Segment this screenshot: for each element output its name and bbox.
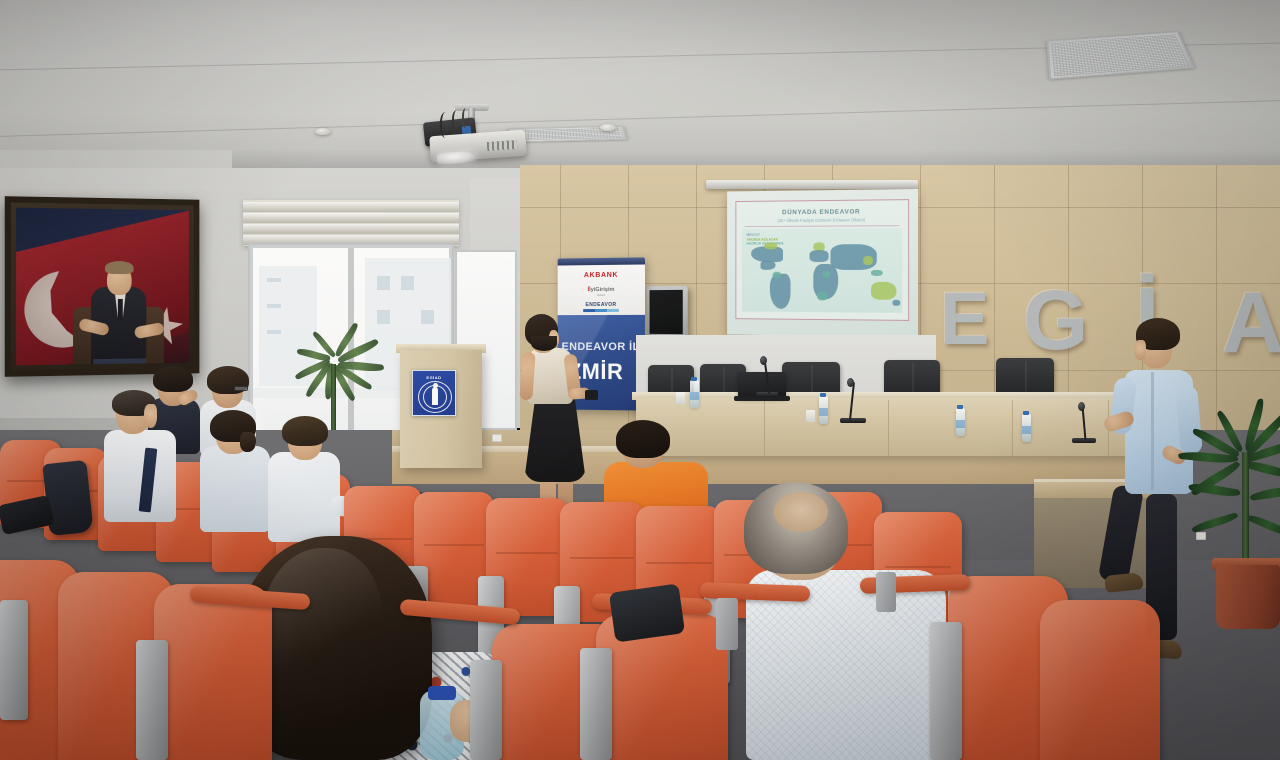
plant-pot [1216, 565, 1280, 629]
map-region-south-africa [817, 291, 828, 300]
wall-letter-g: G [1023, 272, 1088, 369]
world-map-graphic: MEVCUT YAKINDA AÇILACAK HAZIRLIK AŞAMASI… [742, 228, 902, 313]
akbank-logo: AKBANK [558, 272, 645, 280]
map-region-colombia [773, 272, 781, 279]
projection-screen: DÜNYADA ENDEAVOR (30+ Ülkede Faaliyet Gö… [727, 189, 918, 337]
beard-man-beard [240, 432, 256, 452]
shirt-placket [1151, 372, 1154, 490]
presenter-hair-back [531, 336, 557, 351]
window-roman-blind[interactable] [243, 200, 459, 246]
seat-frame [470, 660, 502, 760]
wall-mounted-tv[interactable] [647, 286, 688, 342]
banner-headline-line1: ENDEAVOR İLE [562, 341, 645, 353]
portrait-legs [93, 358, 146, 365]
portrait-hair [105, 261, 134, 274]
map-region-australia [871, 282, 896, 300]
eyeglasses-icon [234, 386, 248, 391]
tie-man-face [144, 404, 157, 428]
map-region-south-america [770, 274, 791, 309]
map-region-indonesia [871, 270, 883, 276]
ceiling-spotlight [600, 124, 616, 131]
wall-letter-a: A [1222, 274, 1280, 373]
projection-screen-housing [706, 180, 918, 189]
map-region-canada [764, 243, 777, 250]
iyigirisim-logo: İİyiGirişim [558, 287, 645, 294]
ataturk-portrait [16, 208, 189, 366]
orange-shirt-man-hair [616, 420, 670, 458]
seat-frame [0, 600, 28, 720]
portrait-tie [118, 299, 123, 321]
back-row-man-hair [153, 366, 193, 392]
drinking-glass[interactable] [806, 410, 815, 422]
seat-frame [876, 572, 896, 612]
map-region-europe-south [809, 250, 828, 262]
beard-man-shirt [200, 446, 270, 532]
map-region-egypt [823, 271, 831, 278]
wall-outlet[interactable] [492, 434, 502, 442]
water-bottle-cap [428, 686, 456, 700]
egiad-logo-figure [432, 387, 438, 405]
ceiling-spotlight [315, 128, 331, 135]
wall-outlet[interactable] [1196, 532, 1206, 540]
auditorium-seat[interactable] [1040, 600, 1160, 760]
slide-title: DÜNYADA ENDEAVOR [735, 208, 909, 216]
map-region-india [863, 256, 873, 265]
map-region-mexico [761, 261, 776, 270]
presentation-slide: DÜNYADA ENDEAVOR (30+ Ülkede Faaliyet Gö… [735, 199, 909, 321]
presentation-clicker[interactable] [585, 390, 598, 400]
seat-frame [930, 622, 962, 760]
endeavor-logo: ENDEAVOR [558, 302, 645, 308]
ataturk-portrait-frame [5, 196, 200, 377]
seat-frame [136, 640, 168, 760]
projector-cable [462, 108, 472, 128]
iyigirisim-sublabel: Akbank [558, 294, 645, 298]
auditorium-seat[interactable] [154, 584, 272, 760]
conference-room-photo: E G İ A [0, 0, 1280, 760]
bald-spot [774, 492, 828, 532]
egiad-logo-text: EGİAD [413, 375, 455, 380]
wall-letter-e: E [940, 276, 989, 361]
yucca-trunk [1242, 452, 1249, 570]
hair-sheen [262, 548, 382, 698]
egiad-logo-plaque: EGİAD [412, 370, 456, 416]
standing-man-face [1134, 340, 1146, 360]
banner-logo-area: AKBANK İİyiGirişim Akbank ENDEAVOR [558, 264, 645, 315]
seat-frame [580, 648, 612, 760]
endeavor-logo-bar [583, 309, 619, 312]
second-row-man-shirt [268, 452, 340, 542]
tv-screen [650, 290, 683, 334]
bag-under-seat[interactable] [609, 583, 685, 642]
drinking-glass[interactable] [676, 392, 685, 404]
second-row-man-hair [282, 416, 328, 446]
egiad-logo-figure-head [433, 383, 438, 388]
stage-step-riser [1034, 498, 1164, 588]
seat-frame [716, 598, 738, 650]
map-region-new-zealand [892, 300, 900, 306]
